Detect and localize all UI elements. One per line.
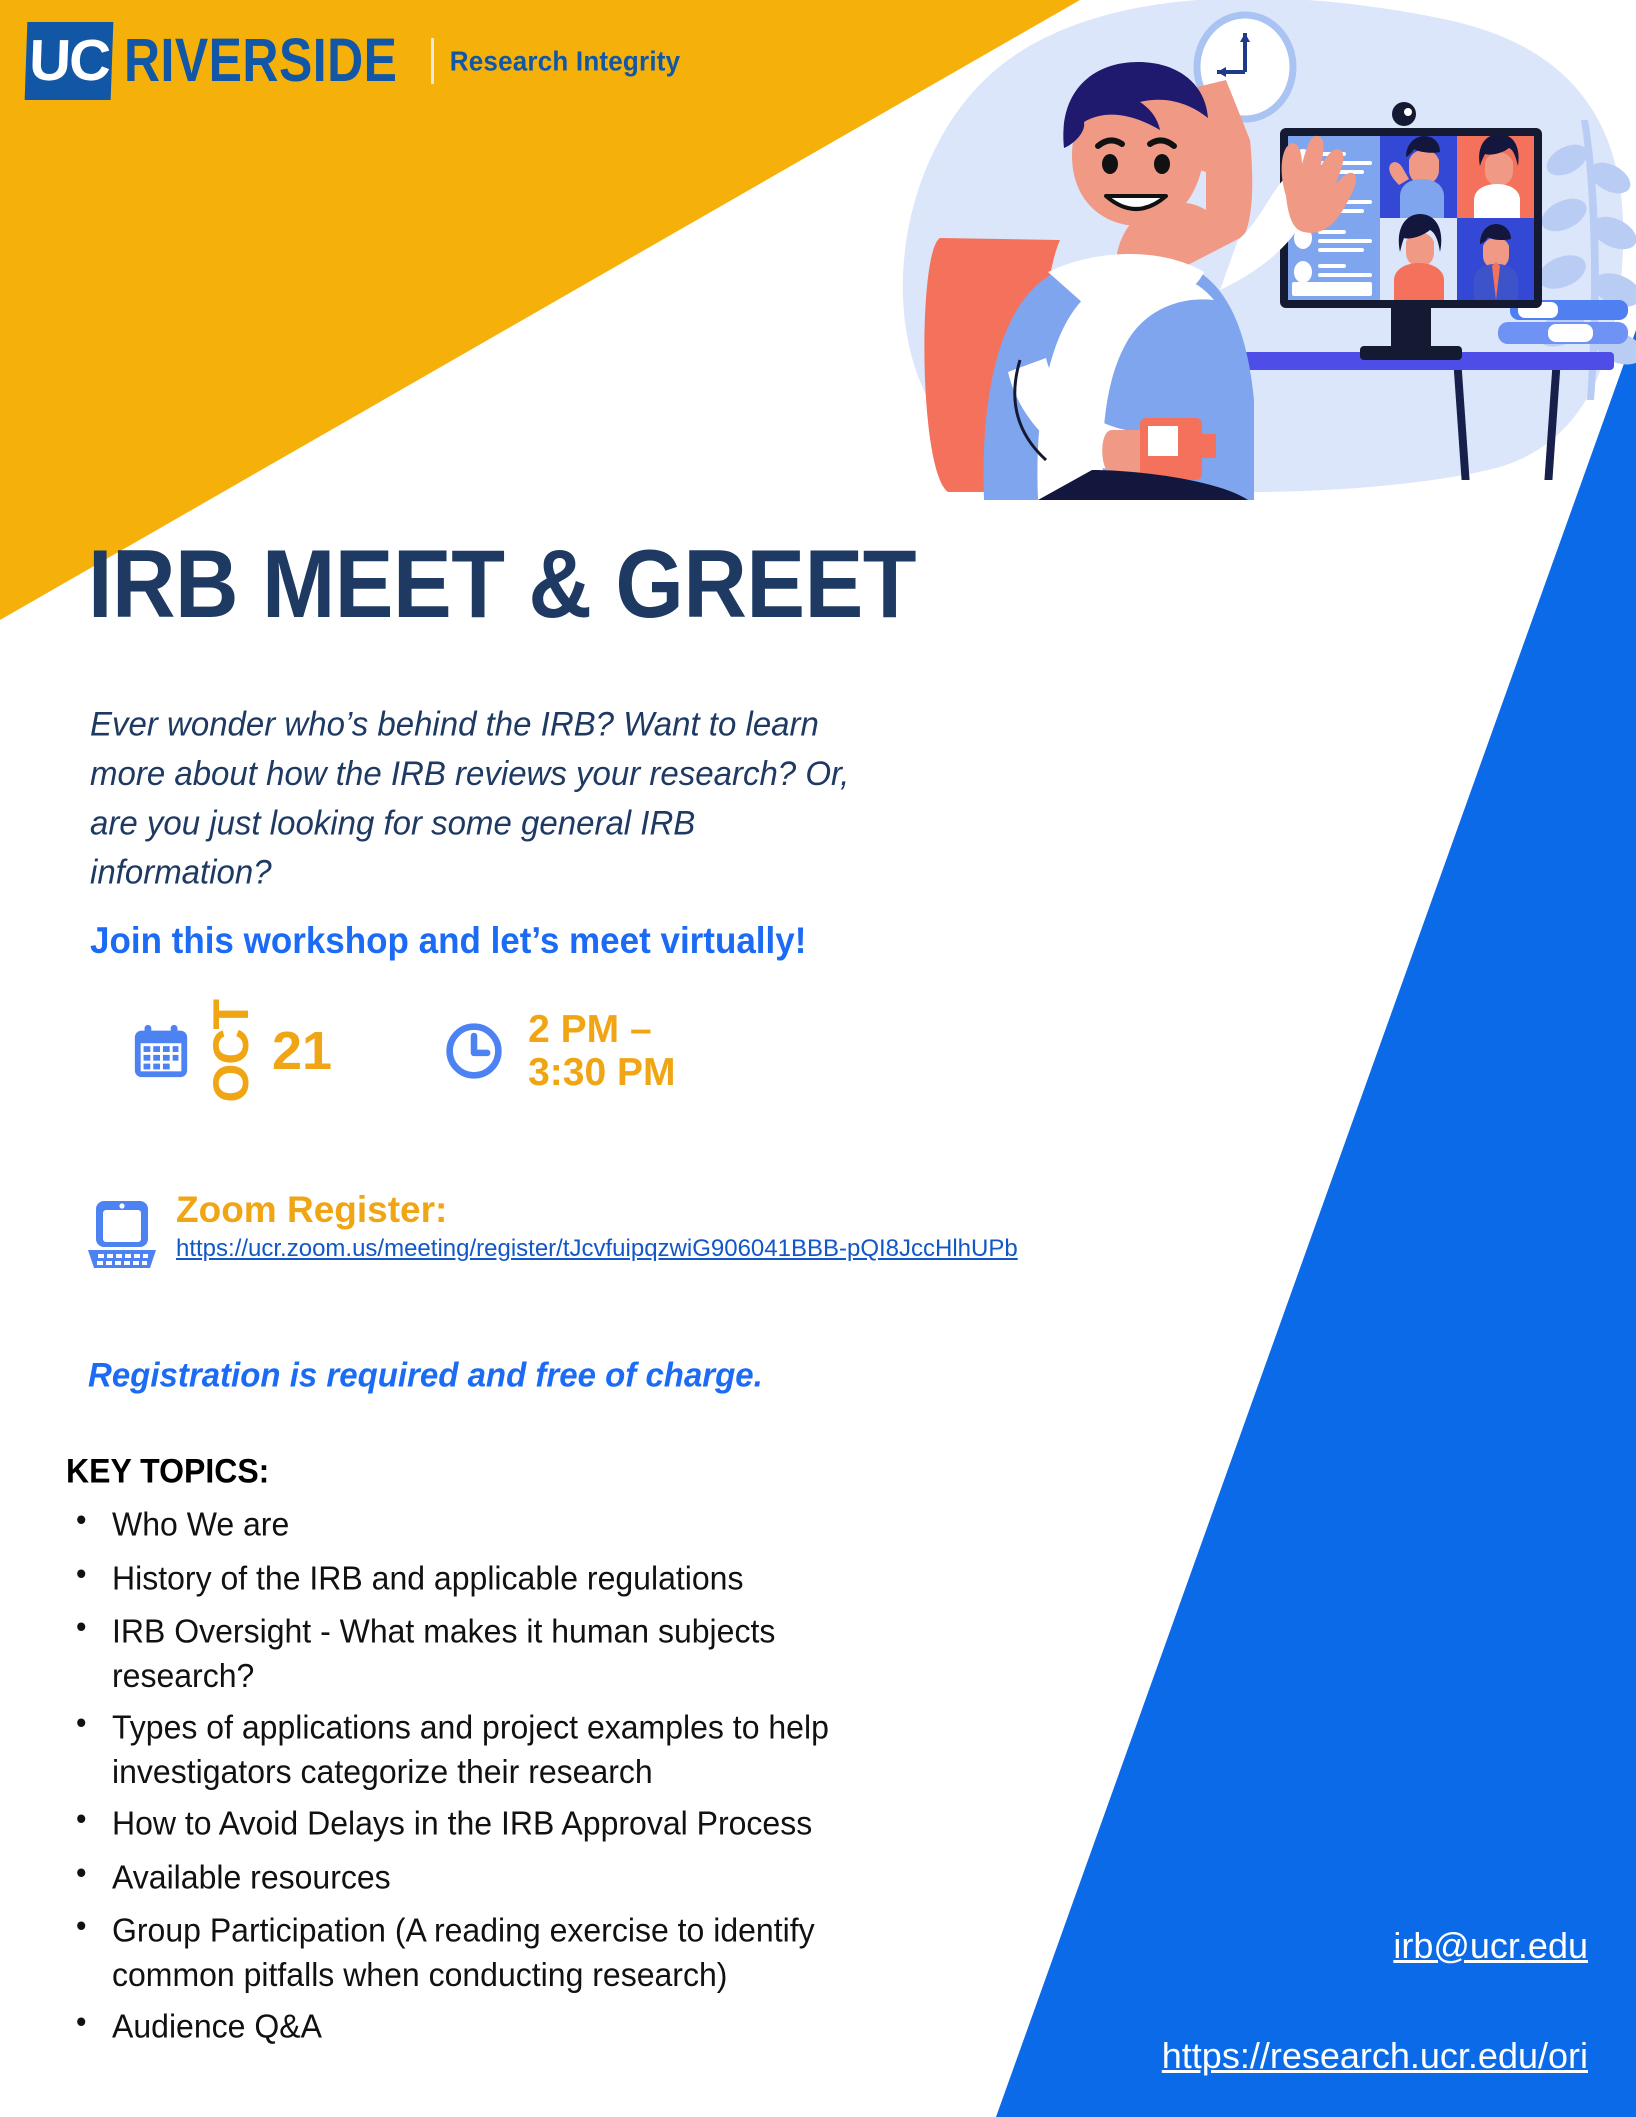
- date-time-row: OCT 21 2 PM – 3:30 PM: [130, 1000, 675, 1103]
- ori-website-link[interactable]: https://research.ucr.edu/ori: [1162, 2035, 1588, 2077]
- clock-icon: [444, 1021, 504, 1081]
- list-item: Group Participation (A reading exercise …: [66, 1908, 896, 1996]
- university-name: RIVERSIDE: [124, 30, 397, 91]
- poster-content: IRB MEET & GREET Ever wonder who’s behin…: [0, 0, 1636, 2117]
- contact-email-link[interactable]: irb@ucr.edu: [1393, 1925, 1588, 1967]
- calendar-icon: [130, 1020, 192, 1082]
- list-item: Who We are: [66, 1502, 896, 1546]
- ucr-logo: UC RIVERSIDE Research Integrity: [26, 22, 680, 100]
- event-day: 21: [272, 1024, 332, 1078]
- event-time: 2 PM – 3:30 PM: [528, 1008, 675, 1095]
- intro-paragraph: Ever wonder who’s behind the IRB? Want t…: [90, 700, 880, 897]
- zoom-register-block: Zoom Register: https://ucr.zoom.us/meeti…: [82, 1190, 1018, 1270]
- join-callout: Join this workshop and let’s meet virtua…: [90, 920, 806, 962]
- department-name: Research Integrity: [450, 44, 680, 77]
- zoom-register-link[interactable]: https://ucr.zoom.us/meeting/register/tJc…: [176, 1235, 1018, 1263]
- list-item: Audience Q&A: [66, 2004, 896, 2048]
- logo-divider: [431, 38, 434, 84]
- uc-badge: UC: [25, 22, 114, 100]
- list-item: History of the IRB and applicable regula…: [66, 1556, 896, 1600]
- zoom-register-texts: Zoom Register: https://ucr.zoom.us/meeti…: [176, 1190, 1018, 1263]
- event-month: OCT: [206, 1000, 256, 1103]
- key-topics-heading: KEY TOPICS:: [66, 1452, 269, 1491]
- registration-note: Registration is required and free of cha…: [88, 1355, 763, 1395]
- key-topics-list: Who We are History of the IRB and applic…: [66, 1502, 896, 2058]
- laptop-icon: [82, 1198, 162, 1270]
- list-item: Available resources: [66, 1855, 896, 1899]
- page-title: IRB MEET & GREET: [88, 528, 916, 640]
- list-item: IRB Oversight - What makes it human subj…: [66, 1609, 896, 1697]
- poster-canvas: UC RIVERSIDE Research Integrity IRB MEET…: [0, 0, 1636, 2117]
- list-item: Types of applications and project exampl…: [66, 1705, 896, 1793]
- list-item: How to Avoid Delays in the IRB Approval …: [66, 1801, 896, 1845]
- zoom-register-label: Zoom Register:: [176, 1189, 447, 1230]
